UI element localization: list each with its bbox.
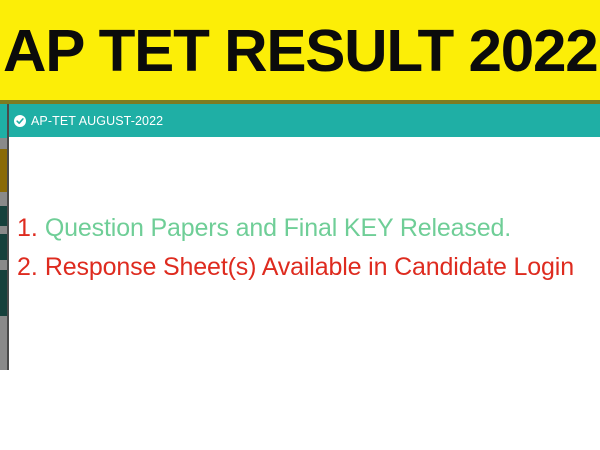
header-badge-group: AP-TET AUGUST-2022 xyxy=(0,114,163,128)
list-item: 1. Question Papers and Final KEY Release… xyxy=(0,214,600,253)
list-item-label: Question Papers and Final KEY Released. xyxy=(45,214,511,243)
page-title: AP TET RESULT 2022 xyxy=(0,22,597,81)
result-title-banner: AP TET RESULT 2022 xyxy=(0,0,600,100)
list-item-marker: 1. xyxy=(17,214,45,243)
list-item-marker: 2. xyxy=(17,253,45,282)
collapsed-sidebar-strip[interactable] xyxy=(0,104,9,370)
site-header-bar: AP-TET AUGUST-2022 xyxy=(0,104,600,137)
header-badge-label: AP-TET AUGUST-2022 xyxy=(31,114,163,128)
check-circle-icon xyxy=(14,115,26,127)
sidebar-border xyxy=(7,104,9,370)
list-item-label: Response Sheet(s) Available in Candidate… xyxy=(45,253,574,282)
list-item: 2. Response Sheet(s) Available in Candid… xyxy=(0,253,600,292)
notice-list: 1. Question Papers and Final KEY Release… xyxy=(0,214,600,292)
embedded-page-screenshot: AP-TET AUGUST-2022 1. Question Papers an… xyxy=(0,104,600,450)
